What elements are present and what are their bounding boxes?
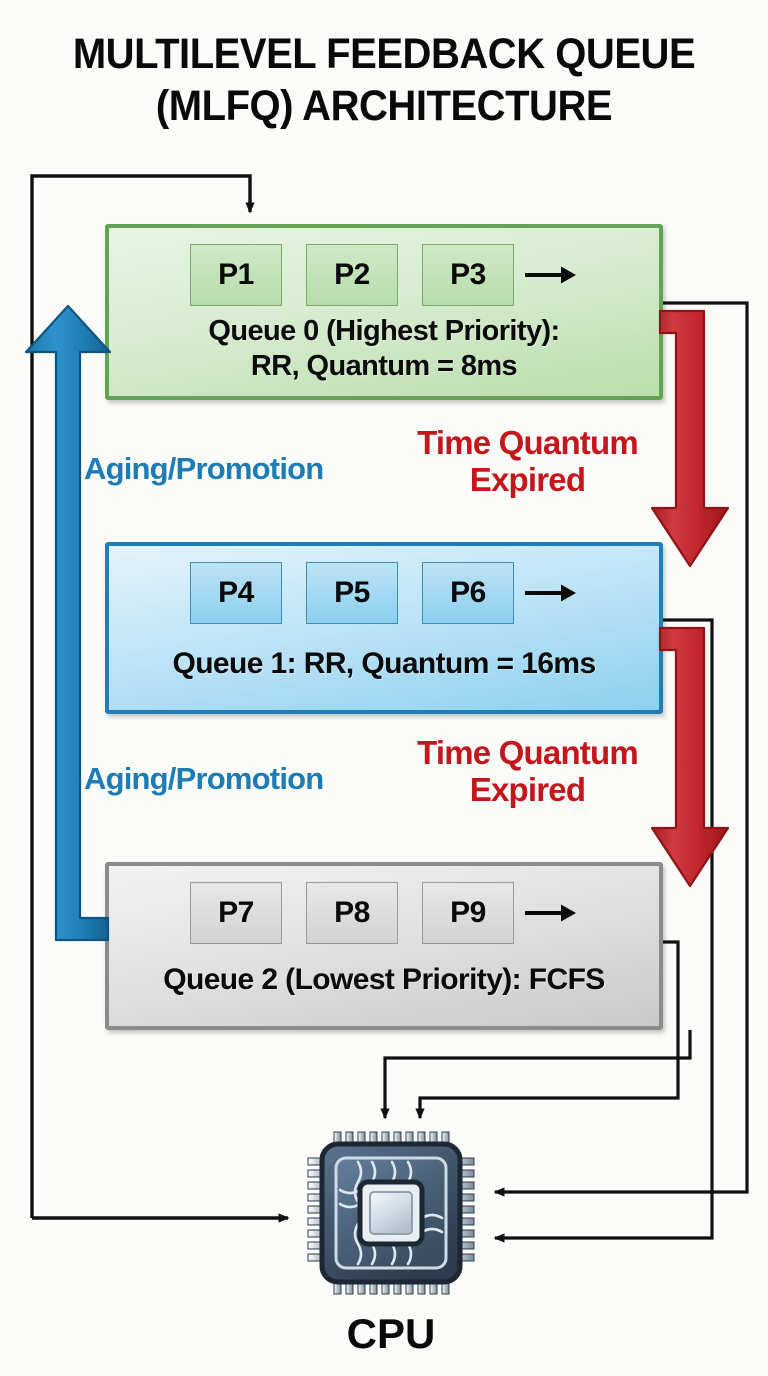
aging-promotion-label-2: Aging/Promotion <box>84 762 323 796</box>
process-box[interactable]: P9 <box>422 882 514 944</box>
right-arrow-icon <box>524 882 578 944</box>
cpu-chip-icon[interactable] <box>296 1118 486 1308</box>
process-box[interactable]: P3 <box>422 244 514 306</box>
queue-2-caption: Queue 2 (Lowest Priority): FCFS <box>109 962 659 997</box>
process-box[interactable]: P5 <box>306 562 398 624</box>
time-quantum-expired-label-1: Time Quantum Expired <box>390 424 665 498</box>
page-title: MULTILEVEL FEEDBACK QUEUE (MLFQ) ARCHITE… <box>27 28 741 132</box>
time-quantum-expired-label-2: Time Quantum Expired <box>390 734 665 808</box>
queue-1-caption: Queue 1: RR, Quantum = 16ms <box>109 646 659 681</box>
right-arrow-icon <box>524 244 578 306</box>
queue-2-box[interactable]: P7 P8 P9 Queue 2 (Lowest Priority): FCFS <box>105 862 663 1030</box>
queue-0-process-list: P1 P2 P3 <box>109 244 659 306</box>
queue-2-process-list: P7 P8 P9 <box>109 882 659 944</box>
diagram-canvas: MULTILEVEL FEEDBACK QUEUE (MLFQ) ARCHITE… <box>0 0 768 1376</box>
process-box[interactable]: P8 <box>306 882 398 944</box>
wire-queue2-dispatch-to-cpu <box>385 1030 690 1118</box>
queue-1-process-list: P4 P5 P6 <box>109 562 659 624</box>
process-box[interactable]: P1 <box>190 244 282 306</box>
right-arrow-icon <box>524 562 578 624</box>
cpu-label: CPU <box>296 1310 486 1358</box>
process-box[interactable]: P2 <box>306 244 398 306</box>
queue-1-box[interactable]: P4 P5 P6 Queue 1: RR, Quantum = 16ms <box>105 542 663 714</box>
process-box[interactable]: P7 <box>190 882 282 944</box>
queue-0-box[interactable]: P1 P2 P3 Queue 0 (Highest Priority): RR,… <box>105 224 663 400</box>
queue-0-caption: Queue 0 (Highest Priority): RR, Quantum … <box>109 314 659 384</box>
process-box[interactable]: P6 <box>422 562 514 624</box>
process-box[interactable]: P4 <box>190 562 282 624</box>
aging-promotion-label-1: Aging/Promotion <box>84 452 323 486</box>
promotion-arrow-aging <box>26 306 110 940</box>
